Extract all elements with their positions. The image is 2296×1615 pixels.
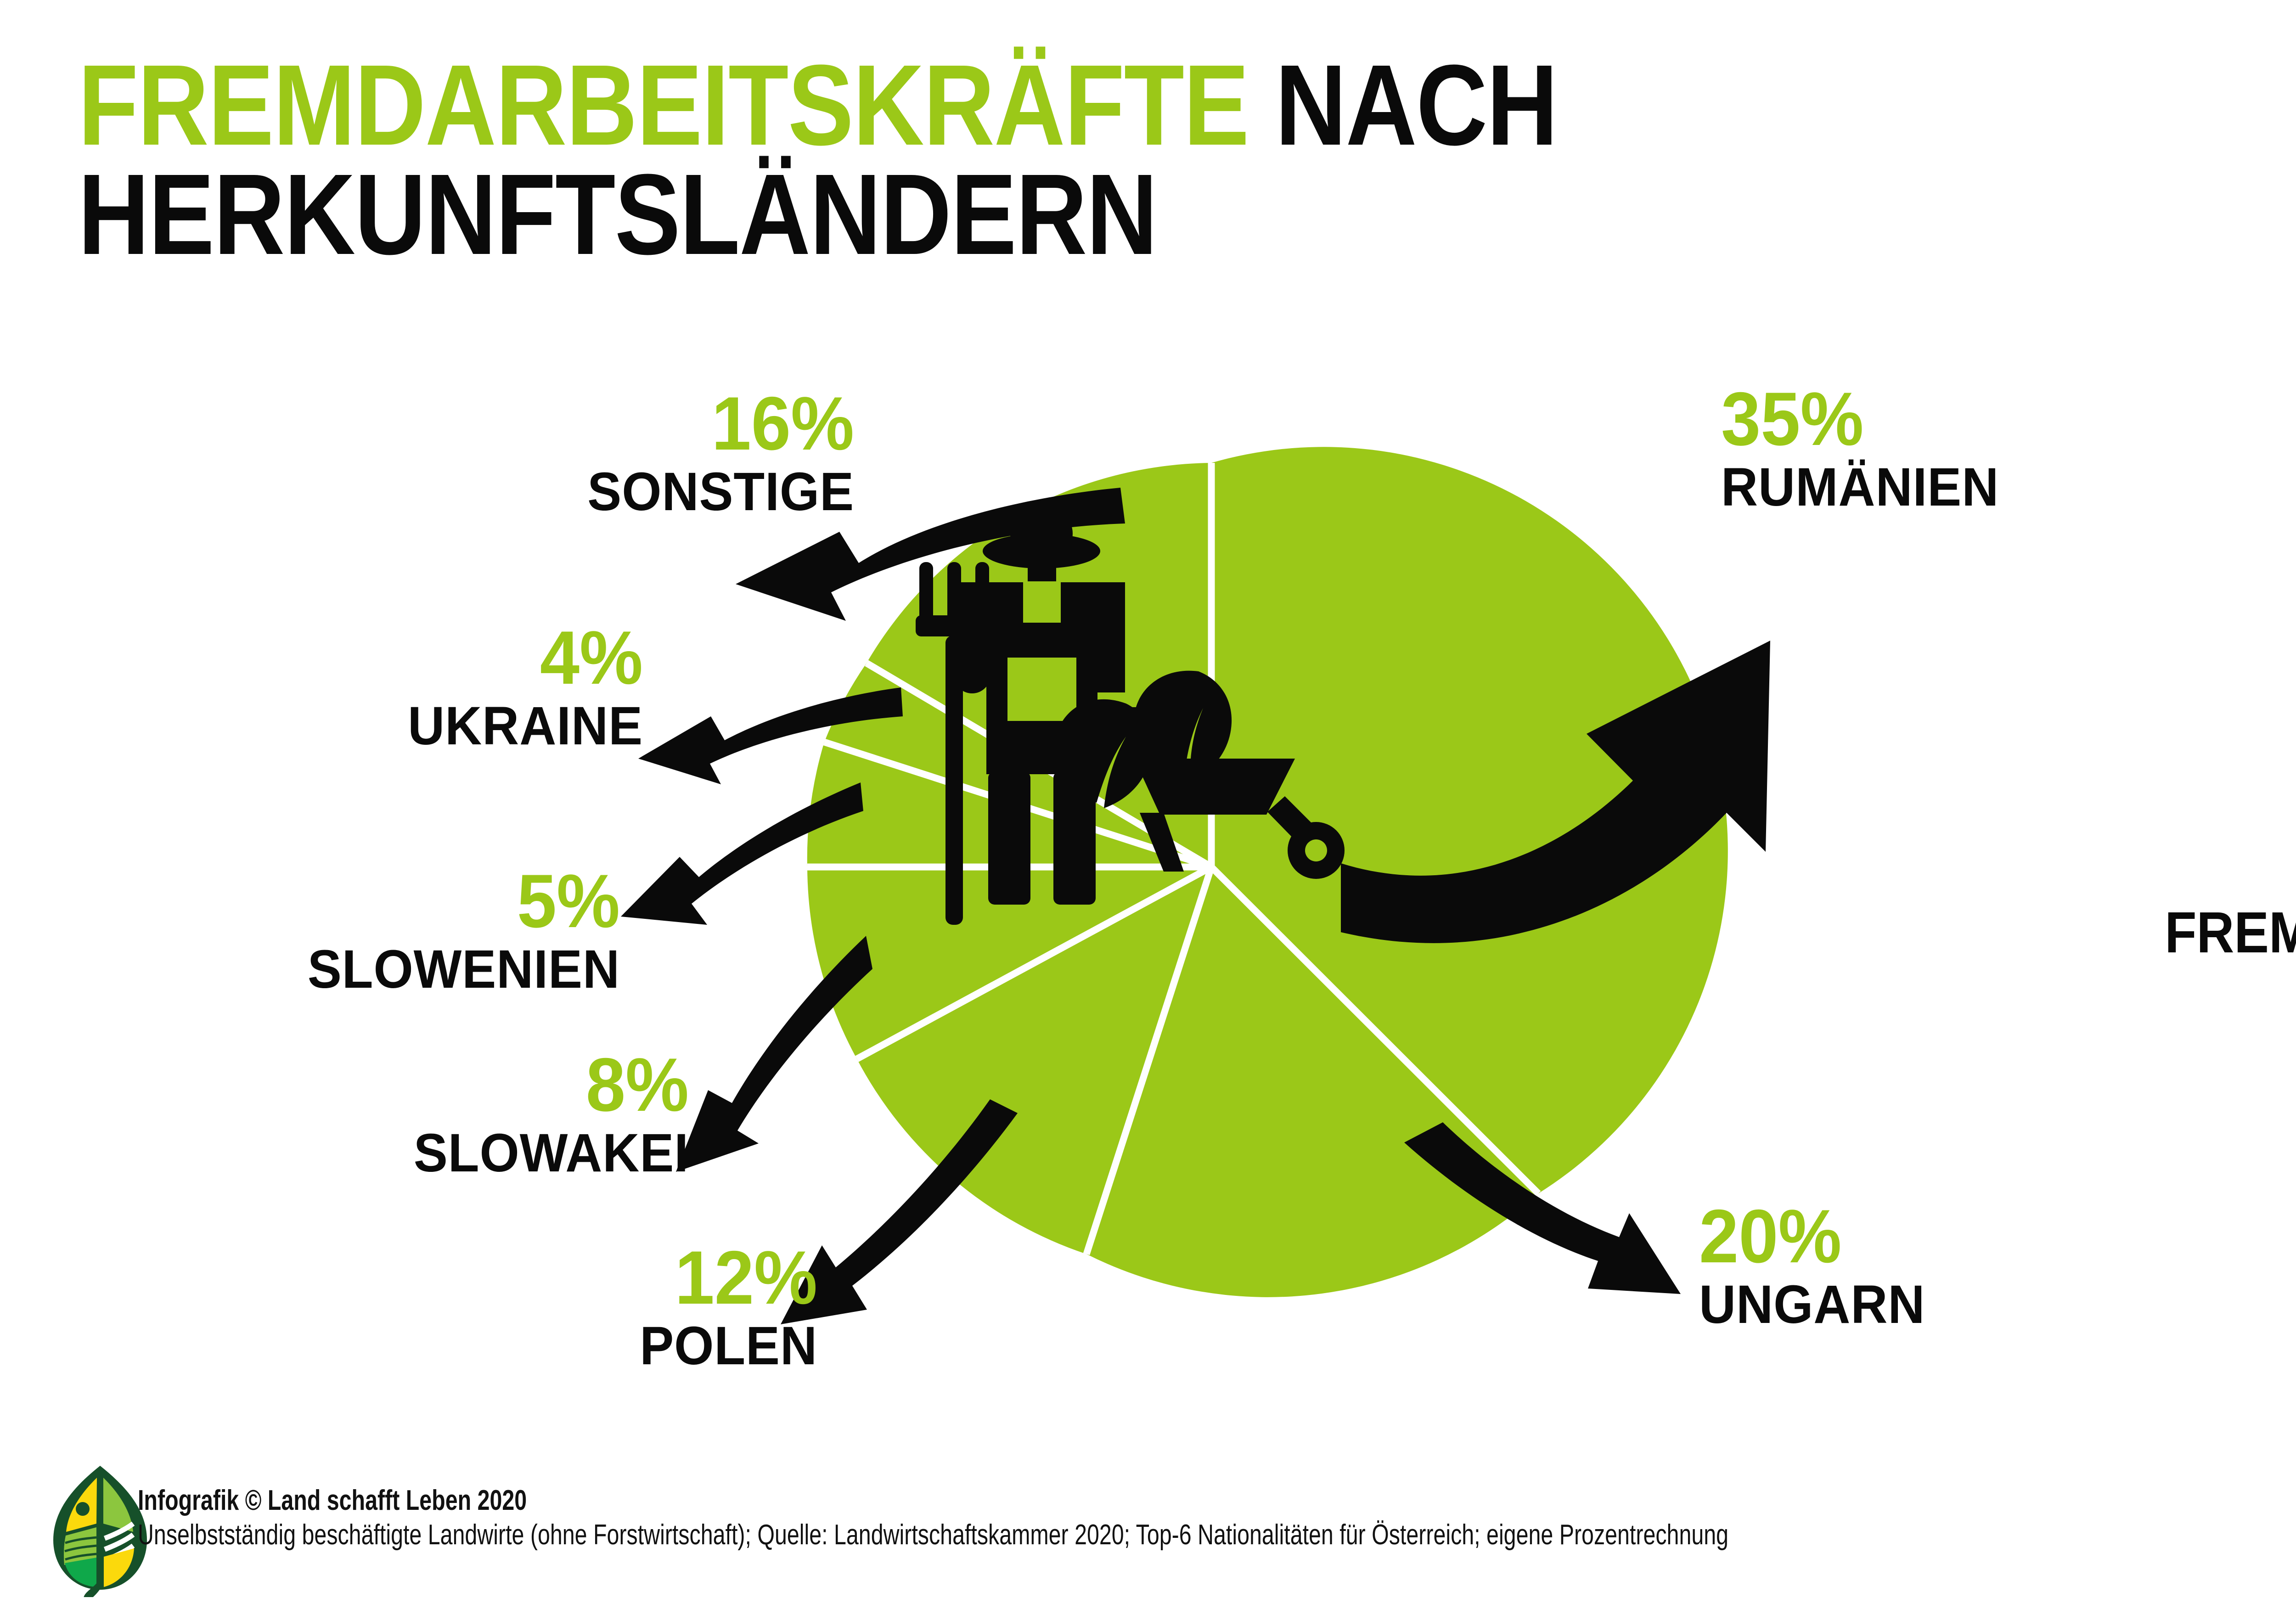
- left-arm: [958, 582, 986, 668]
- callout-ukraine-percent: 4%: [233, 620, 643, 696]
- callout-rumaenien[interactable]: 35% RUMÄNIEN: [1721, 381, 2017, 518]
- callout-slowenien[interactable]: 5% SLOWENIEN: [138, 863, 620, 1000]
- callout-sonstige[interactable]: 16% SONSTIGE: [276, 386, 854, 522]
- callout-slowenien-label: SLOWENIEN: [167, 939, 620, 1000]
- callout-ungarn-percent: 20%: [1699, 1199, 1925, 1274]
- left-hand: [954, 657, 990, 693]
- leaf-dot: [76, 1502, 90, 1516]
- land-schafft-leben-leaf-logo: [50, 1464, 151, 1597]
- total-summary: FREMDARBEITSKRÄFTE INSGESAMT 13.800 MENS…: [2095, 900, 2296, 1096]
- callout-sonstige-percent: 16%: [310, 386, 854, 461]
- total-line-2: INSGESAMT: [2165, 965, 2296, 1030]
- footer-text: Infografik © Land schafft Leben 2020 Uns…: [138, 1484, 2177, 1554]
- neck: [1028, 559, 1056, 581]
- callout-rumaenien-label: RUMÄNIEN: [1721, 457, 1999, 518]
- callout-ungarn-label: UNGARN: [1699, 1274, 1925, 1335]
- arrow-slowakei: [676, 936, 872, 1172]
- infographic-canvas: FREMDARBEITSKRÄFTE NACH HERKUNFTSLÄNDERN: [0, 0, 2296, 1615]
- pitchfork-tine-left: [919, 562, 933, 624]
- hat-crown: [1010, 505, 1073, 562]
- leg-left: [988, 771, 1030, 905]
- callout-polen-percent: 12%: [351, 1240, 817, 1316]
- callout-slowakei-label: SLOWAKEI: [223, 1123, 689, 1183]
- right-arm: [1097, 582, 1125, 692]
- callout-ukraine-label: UKRAINE: [233, 696, 643, 756]
- total-line-1: FREMDARBEITSKRÄFTE: [2165, 900, 2296, 965]
- callout-slowenien-percent: 5%: [167, 863, 620, 939]
- callout-polen-label: POLEN: [351, 1316, 817, 1376]
- callout-polen[interactable]: 12% POLEN: [321, 1240, 817, 1376]
- callout-rumaenien-percent: 35%: [1721, 381, 1999, 457]
- leaf-midrib: [97, 1477, 103, 1588]
- footer-credit: Infografik © Land schafft Leben 2020: [138, 1484, 1728, 1517]
- wheelbarrow-wheel-inner: [1305, 839, 1327, 861]
- callout-ukraine[interactable]: 4% UKRAINE: [207, 620, 643, 756]
- callout-slowakei[interactable]: 8% SLOWAKEI: [193, 1047, 689, 1183]
- total-line-3: 13.800 MENSCHEN: [2165, 1031, 2296, 1096]
- callout-sonstige-label: SONSTIGE: [310, 461, 854, 522]
- callout-ungarn[interactable]: 20% UNGARN: [1699, 1199, 1940, 1335]
- footer-source: Unselbstständig beschäftigte Landwirte (…: [138, 1517, 1728, 1554]
- callout-slowakei-percent: 8%: [223, 1047, 689, 1123]
